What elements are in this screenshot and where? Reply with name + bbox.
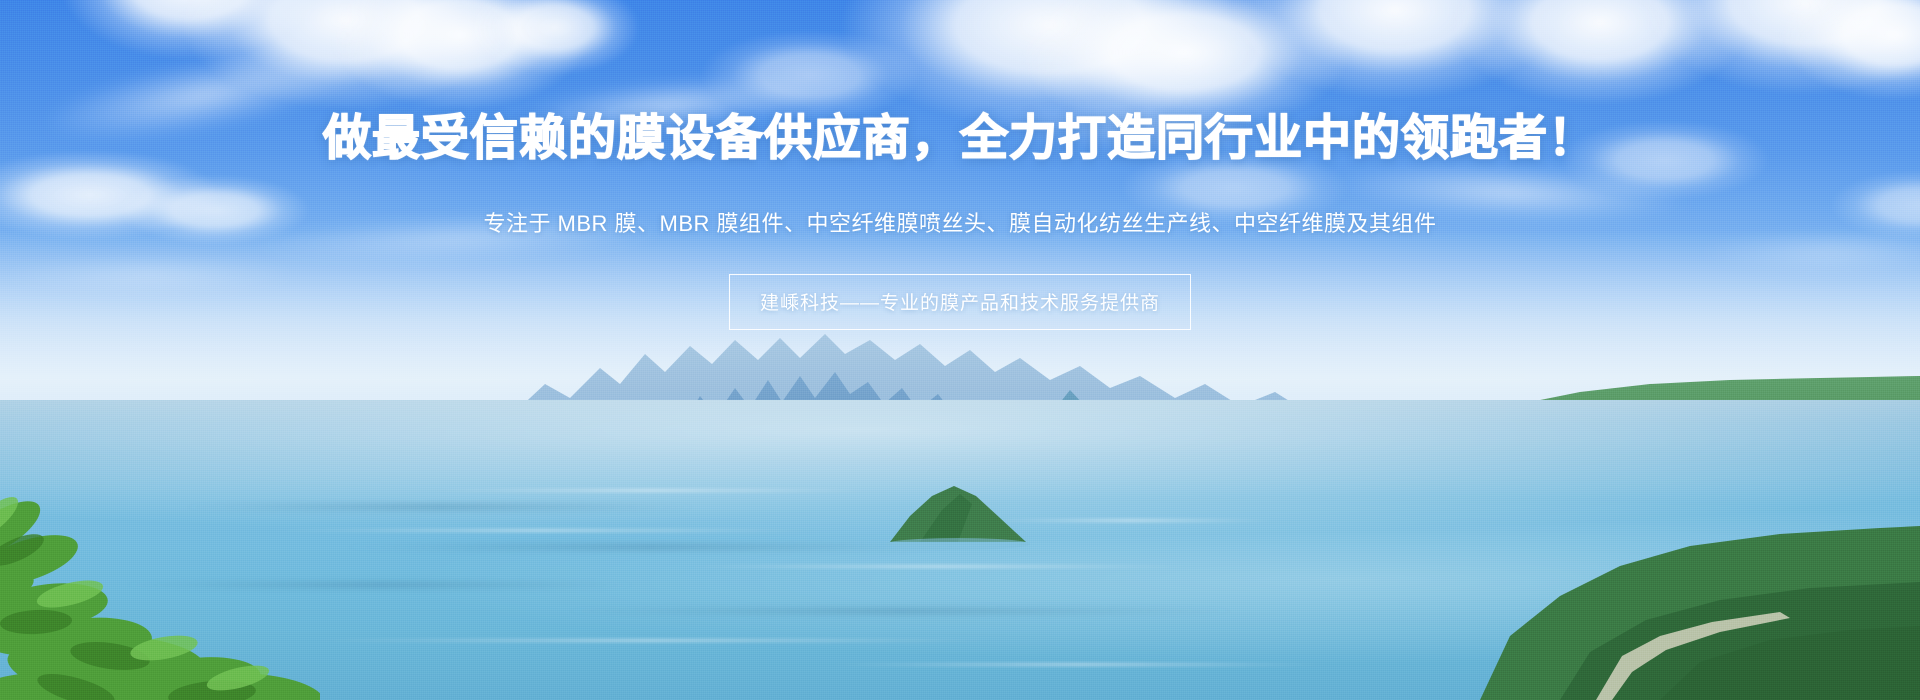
banner-tagline-box[interactable]: 建嵊科技——专业的膜产品和技术服务提供商	[729, 274, 1191, 330]
cloud	[1120, 150, 1350, 225]
foreground-foliage	[0, 410, 320, 700]
cloud	[700, 30, 920, 120]
lake-island	[880, 480, 1040, 550]
right-bank	[1360, 400, 1920, 700]
hero-banner: 做最受信赖的膜设备供应商，全力打造同行业中的领跑者！ 专注于 MBR 膜、MBR…	[0, 0, 1920, 700]
